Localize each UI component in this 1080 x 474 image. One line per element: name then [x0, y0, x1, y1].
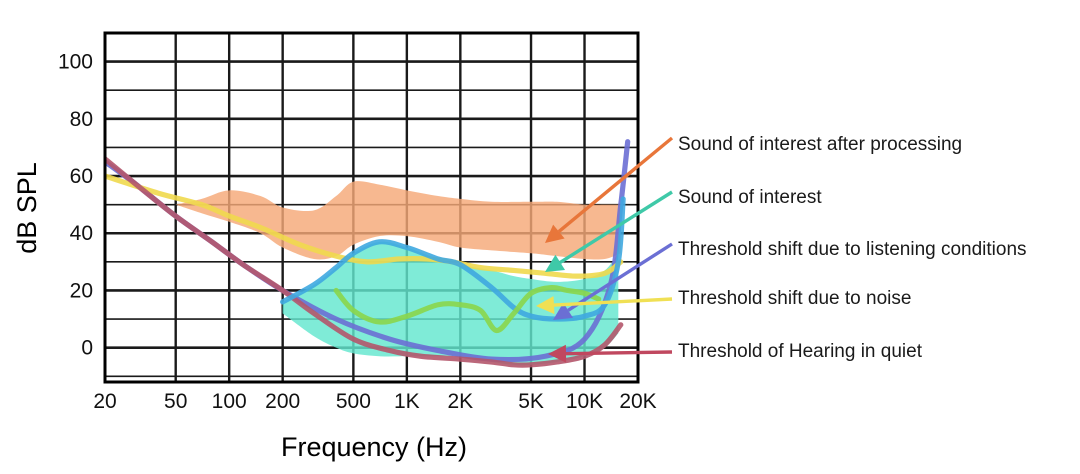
x-tick-label: 50: [164, 390, 187, 413]
y-tick-label: 80: [70, 108, 93, 131]
y-tick-label: 0: [81, 337, 93, 360]
x-tick-label: 20K: [619, 390, 656, 413]
y-tick-label: 100: [58, 51, 93, 74]
x-tick-label: 200: [265, 390, 300, 413]
x-tick-label: 2K: [447, 390, 473, 413]
x-axis-title: Frequency (Hz): [281, 432, 467, 462]
y-tick-label: 20: [70, 279, 93, 302]
y-axis-title: dB SPL: [12, 162, 42, 254]
legend-label: Sound of interest: [678, 187, 822, 208]
legend-label: Threshold of Hearing in quiet: [678, 341, 923, 362]
legend-label: Threshold shift due to noise: [678, 288, 911, 309]
x-tick-label: 1K: [394, 390, 420, 413]
legend-label: Threshold shift due to listening conditi…: [678, 239, 1027, 260]
y-tick-label: 60: [70, 165, 93, 188]
legend-leader-line: [566, 352, 672, 354]
x-tick-label: 500: [336, 390, 371, 413]
x-tick-label: 10K: [566, 390, 603, 413]
x-tick-label: 100: [212, 390, 247, 413]
audiogram-svg: 020406080100 20501002005001K2K5K10K20K F…: [0, 0, 1080, 474]
x-tick-label: 20: [93, 390, 116, 413]
y-tick-label: 40: [70, 222, 93, 245]
chart-figure: 020406080100 20501002005001K2K5K10K20K F…: [0, 0, 1080, 474]
legend-label: Sound of interest after processing: [678, 134, 962, 155]
x-tick-label: 5K: [518, 390, 544, 413]
